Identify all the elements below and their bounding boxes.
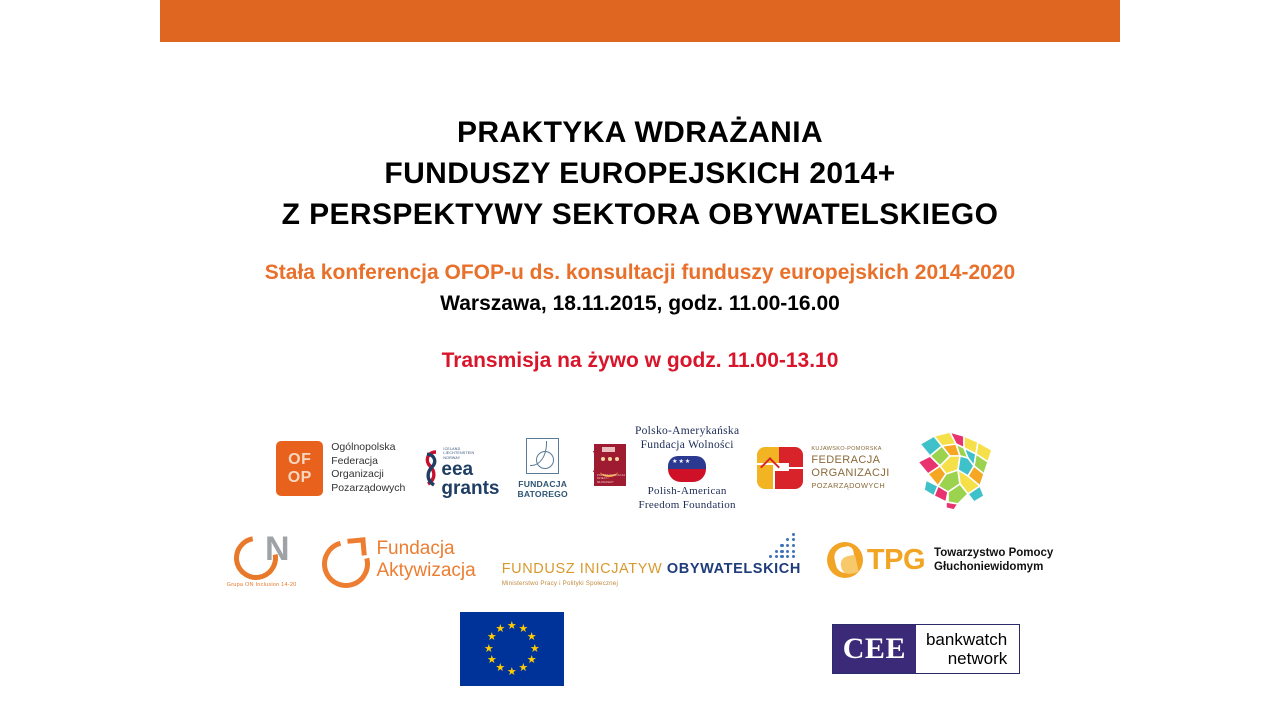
title-line-3: Z PERSPEKTYWY SEKTORA OBYWATELSKIEGO <box>0 194 1280 235</box>
pafw-partner-icon: POLSKA FUNDACJA DZIECI I MŁODZIEŻY <box>586 442 626 494</box>
pafw-pl-line-1: Polsko-Amerykańska <box>635 424 739 438</box>
fio-bars-icon <box>769 533 795 559</box>
aktywizacja-line-2: Aktywizacja <box>376 560 475 582</box>
pafw-face-icon: POLSKA FUNDACJA DZIECI I MŁODZIEŻY <box>594 444 626 486</box>
kpfop-icon <box>757 447 803 489</box>
cee-text-line-1: bankwatch <box>926 630 1007 649</box>
pafw-eyes-icon <box>601 457 619 461</box>
eu-star-icon: ★ <box>529 644 540 655</box>
pafw-pl-line-2: Fundacja Wolności <box>635 438 739 452</box>
ofop-wordmark: Ogólnopolska Federacja Organizacji Pozar… <box>331 441 405 495</box>
title-line-1: PRAKTYKA WDRAŻANIA <box>0 112 1280 153</box>
sponsor-logo-area: OF OP Ogólnopolska Federacja Organizacji… <box>0 418 1280 692</box>
ofop-text-line-2: Federacja <box>331 455 405 469</box>
eea-grants-icon <box>423 448 441 488</box>
batorego-text-line-1: FUNDACJA <box>517 479 567 489</box>
logo-row-1: OF OP Ogólnopolska Federacja Organizacji… <box>0 418 1280 518</box>
on-inclusion-icon-letter: N <box>265 532 290 566</box>
eu-star-icon: ★ <box>483 644 494 655</box>
logo-ofop: OF OP Ogólnopolska Federacja Organizacji… <box>276 441 405 496</box>
cee-text-line-2: network <box>926 649 1007 668</box>
header-accent-bar <box>160 0 1120 42</box>
eea-swirl-icon <box>423 448 441 488</box>
tpg-text-line-1: Towarzystwo Pomocy <box>934 546 1053 560</box>
kpfop-region-label: KUJAWSKO-POMORSKA <box>811 446 889 452</box>
ofop-icon: OF OP <box>276 441 323 496</box>
pafw-wordmark: Polsko-Amerykańska Fundacja Wolności ★★★… <box>635 424 739 512</box>
live-stream-notice: Transmisja na żywo w godz. 11.00-13.10 <box>0 346 1280 376</box>
pafw-bar-icon <box>602 447 615 452</box>
logo-european-union-flag: ★★★★★★★★★★★★ <box>460 612 564 686</box>
logo-eea-grants: ICELAND LIECHTENSTEIN NORWAY eea grants <box>423 438 499 499</box>
eu-star-icon: ★ <box>495 624 506 635</box>
logo-poland-regions-map <box>908 422 1004 514</box>
batorego-text-line-2: BATOREGO <box>517 489 567 499</box>
eea-grants-wordmark: ICELAND LIECHTENSTEIN NORWAY eea grants <box>441 438 499 499</box>
eu-star-icon: ★ <box>526 632 537 643</box>
pafw-en-line-2: Freedom Foundation <box>635 499 739 513</box>
aktywizacja-arrow-icon <box>348 537 368 557</box>
ofop-text-line-1: Ogólnopolska <box>331 441 405 455</box>
eu-star-icon: ★ <box>486 655 497 666</box>
logo-cee-bankwatch: CEE bankwatch network <box>832 624 1020 674</box>
logo-pafw: POLSKA FUNDACJA DZIECI I MŁODZIEŻY Polsk… <box>586 424 739 512</box>
eu-flag-icon: ★★★★★★★★★★★★ <box>460 612 564 686</box>
eu-star-icon: ★ <box>518 663 529 674</box>
fio-text-bold: OBYWATELSKICH <box>667 561 801 577</box>
fio-ministry-subtitle: Ministerstwo Pracy i Polityki Społecznej <box>502 580 618 587</box>
ofop-icon-line-2: OP <box>288 469 312 486</box>
logo-fundacja-batorego: FUNDACJA BATOREGO <box>517 438 567 499</box>
logo-row-3: ★★★★★★★★★★★★ CEE bankwatch network <box>0 606 1280 692</box>
pafw-en-line-1: Polish-American <box>635 485 739 499</box>
event-location-datetime: Warszawa, 18.11.2015, godz. 11.00-16.00 <box>0 288 1280 319</box>
ofop-text-line-3: Organizacji <box>331 468 405 482</box>
logo-row-2: N Grupa ON Inclusion 14-20 Fundacja Akty… <box>0 522 1280 598</box>
kpfop-wordmark: KUJAWSKO-POMORSKA FEDERACJA ORGANIZACJI … <box>811 446 889 490</box>
tpg-letters: TPG <box>867 545 925 575</box>
conference-name: Stała konferencja OFOP-u ds. konsultacji… <box>0 258 1280 288</box>
kpfop-text-line-3: POZARZĄDOWYCH <box>811 481 889 490</box>
ofop-text-line-4: Pozarządowych <box>331 482 405 496</box>
on-inclusion-icon: N <box>234 532 290 578</box>
eea-donor-countries: ICELAND LIECHTENSTEIN NORWAY <box>443 447 499 461</box>
eu-star-icon: ★ <box>506 621 517 632</box>
cee-wordmark: bankwatch network <box>916 625 1019 673</box>
us-pl-flag-icon: ★★★ <box>668 456 706 482</box>
tpg-wordmark: Towarzystwo Pomocy Głuchoniewidomym <box>934 546 1053 574</box>
logo-tpg: TPG Towarzystwo Pomocy Głuchoniewidomym <box>827 542 1053 578</box>
eea-word-eea: eea <box>441 461 499 479</box>
aktywizacja-wordmark: Fundacja Aktywizacja <box>376 538 475 582</box>
kpfop-text-line-1: FEDERACJA <box>811 454 889 467</box>
fio-text-light: FUNDUSZ INICJATYW <box>502 561 663 577</box>
on-inclusion-caption: Grupa ON Inclusion 14-20 <box>227 582 297 588</box>
eu-star-icon: ★ <box>506 667 517 678</box>
logo-kujawsko-pomorska-federacja: KUJAWSKO-POMORSKA FEDERACJA ORGANIZACJI … <box>757 446 889 490</box>
poland-map-icon <box>908 422 1004 514</box>
eea-word-grants: grants <box>441 480 499 498</box>
logo-on-inclusion: N Grupa ON Inclusion 14-20 <box>227 532 297 588</box>
pafw-mark-caption: POLSKA FUNDACJA DZIECI I MŁODZIEŻY <box>597 474 626 484</box>
batorego-circle-icon <box>536 451 554 469</box>
subtitle-block: Stała konferencja OFOP-u ds. konsultacji… <box>0 258 1280 376</box>
tpg-text-line-2: Głuchoniewidomym <box>934 560 1053 574</box>
batorego-icon <box>526 438 559 474</box>
page-title: PRAKTYKA WDRAŻANIA FUNDUSZY EUROPEJSKICH… <box>0 112 1280 235</box>
tpg-hand-icon <box>827 542 863 578</box>
fio-wordmark: FUNDUSZ INICJATYW OBYWATELSKICH <box>502 561 801 577</box>
title-line-2: FUNDUSZY EUROPEJSKICH 2014+ <box>0 153 1280 194</box>
ofop-icon-line-1: OF <box>288 451 311 468</box>
logo-fio: FUNDUSZ INICJATYW OBYWATELSKICH Minister… <box>502 533 801 588</box>
logo-fundacja-aktywizacja: Fundacja Aktywizacja <box>322 537 475 583</box>
cee-abbrev: CEE <box>843 632 906 666</box>
aktywizacja-line-1: Fundacja <box>376 538 475 560</box>
batorego-wordmark: FUNDACJA BATOREGO <box>517 479 567 499</box>
cee-bankwatch-block: CEE bankwatch network <box>832 624 1020 674</box>
kpfop-text-line-2: ORGANIZACJI <box>811 467 889 480</box>
aktywizacja-icon <box>322 537 368 583</box>
cee-abbrev-block: CEE <box>833 625 916 673</box>
